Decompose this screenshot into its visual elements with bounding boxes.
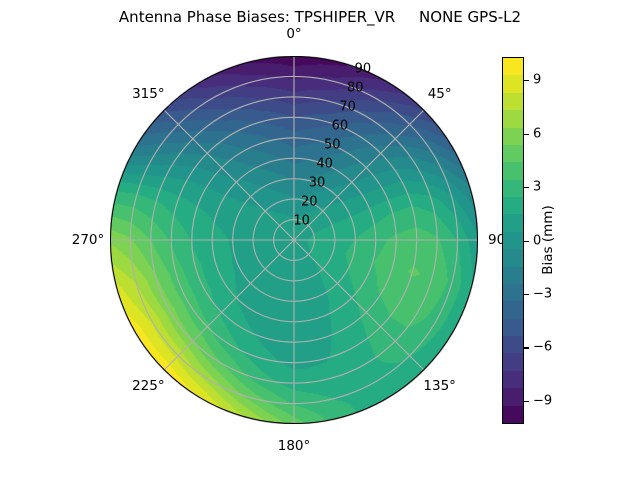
colorbar-tickmark — [524, 401, 529, 402]
colorbar-tickmark — [524, 134, 529, 135]
figure-canvas: Antenna Phase Biases: TPSHIPER_VR NONE G… — [0, 0, 640, 480]
colorbar-gradient — [502, 57, 524, 424]
azimuth-tick-45: 45° — [428, 86, 452, 102]
zenith-tick-90: 90 — [355, 62, 372, 77]
colorbar-band — [503, 145, 523, 162]
page-title: Antenna Phase Biases: TPSHIPER_VR NONE G… — [0, 8, 640, 26]
zenith-tick-10: 10 — [293, 214, 310, 229]
colorbar-band — [503, 249, 523, 266]
colorbar-band — [503, 353, 523, 370]
colorbar-tick-label: 3 — [533, 180, 541, 195]
colorbar-band — [503, 110, 523, 127]
colorbar-band — [503, 267, 523, 284]
colorbar-band — [503, 197, 523, 214]
zenith-tick-70: 70 — [339, 100, 356, 115]
polar-data-clip — [110, 56, 478, 424]
colorbar-band — [503, 58, 523, 75]
colorbar-tick-label: −3 — [533, 286, 552, 301]
azimuth-tick-270: 270° — [72, 232, 105, 248]
colorbar-band — [503, 93, 523, 110]
colorbar-tick-label: 6 — [533, 126, 541, 141]
colorbar-band — [503, 406, 523, 423]
colorbar-band — [503, 232, 523, 249]
colorbar-tickmark — [524, 80, 529, 81]
colorbar-tick-label: 9 — [533, 73, 541, 88]
azimuth-tick-225: 225° — [132, 378, 165, 394]
colorbar-tick-label: −9 — [533, 393, 552, 408]
colorbar-band — [503, 214, 523, 231]
zenith-tick-60: 60 — [332, 119, 349, 134]
colorbar-band — [503, 162, 523, 179]
colorbar-axis-label: Bias (mm) — [540, 205, 556, 274]
colorbar-tickmark — [524, 294, 529, 295]
colorbar-band — [503, 75, 523, 92]
colorbar-band — [503, 371, 523, 388]
colorbar-tickmark — [524, 187, 529, 188]
zenith-tick-30: 30 — [309, 176, 326, 191]
colorbar-tickmark — [524, 241, 529, 242]
colorbar-band — [503, 128, 523, 145]
colorbar-band — [503, 388, 523, 405]
colorbar-tick-labels: −9−6−30369 — [524, 57, 614, 424]
colorbar-band — [503, 301, 523, 318]
polar-plot-axes[interactable] — [110, 56, 478, 424]
colorbar-band — [503, 319, 523, 336]
azimuth-tick-0: 0° — [286, 26, 301, 42]
zenith-tick-40: 40 — [316, 157, 333, 172]
colorbar-tickmark — [524, 347, 529, 348]
zenith-tick-50: 50 — [324, 138, 341, 153]
polar-contour-field — [110, 56, 478, 424]
azimuth-tick-135: 135° — [423, 378, 456, 394]
azimuth-tick-180: 180° — [278, 438, 311, 454]
colorbar-band — [503, 336, 523, 353]
colorbar-band — [503, 180, 523, 197]
zenith-tick-20: 20 — [301, 195, 318, 210]
zenith-tick-80: 80 — [347, 81, 364, 96]
colorbar-band — [503, 284, 523, 301]
colorbar-tick-label: −6 — [533, 340, 552, 355]
azimuth-tick-315: 315° — [132, 86, 165, 102]
